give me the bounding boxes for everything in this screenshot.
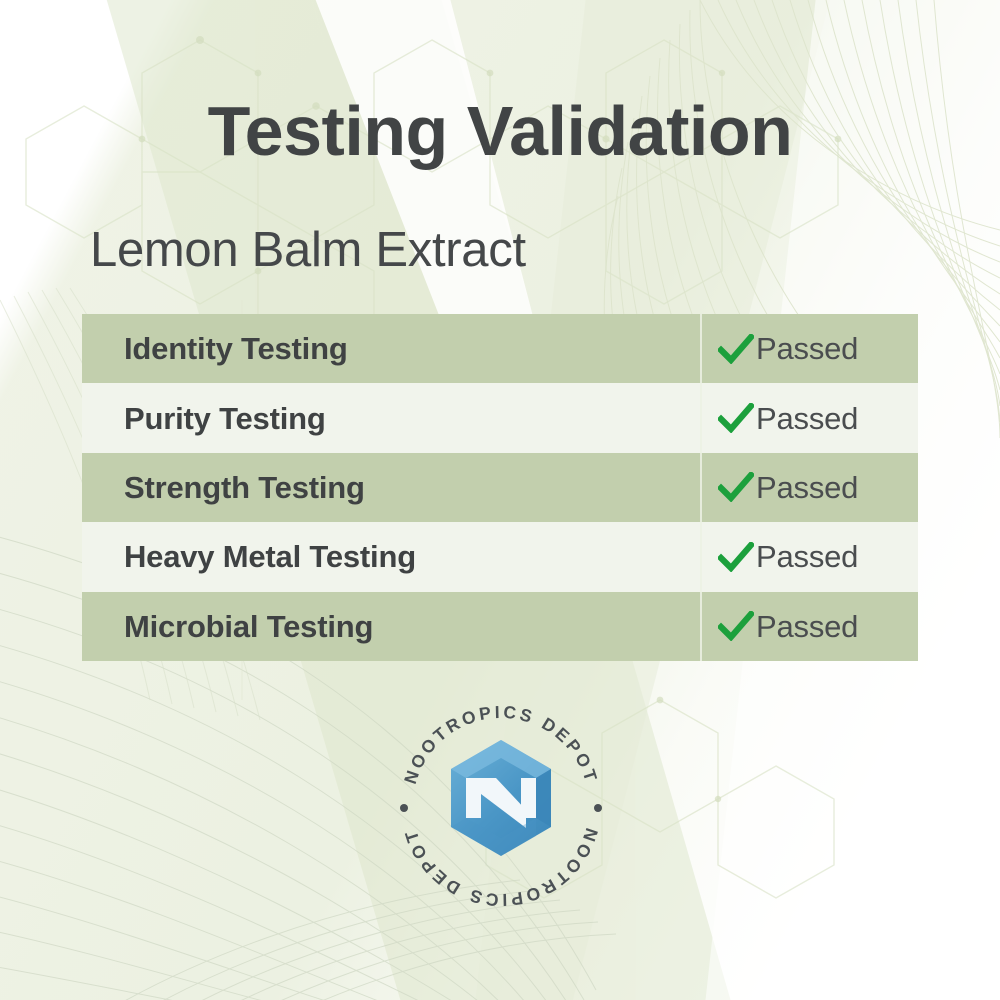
test-status: Passed (718, 403, 858, 434)
status-label: Passed (756, 611, 858, 642)
testing-validation-card: Testing Validation Lemon Balm Extract Id… (0, 0, 1000, 1000)
logo-monogram-icon (451, 740, 551, 856)
check-icon (718, 334, 754, 364)
check-icon (718, 542, 754, 572)
test-status: Passed (718, 472, 858, 503)
brand-logo: NOOTROPICS DEPOT NOOTROPICS DEPOT (385, 690, 617, 922)
table-row: Purity Testing Passed (82, 383, 918, 452)
table-row: Identity Testing Passed (82, 314, 918, 383)
page-title: Testing Validation (0, 96, 1000, 166)
testing-results-table: Identity Testing Passed Purity Testing P… (82, 314, 918, 661)
product-name: Lemon Balm Extract (90, 226, 526, 275)
table-row: Strength Testing Passed (82, 453, 918, 522)
table-row: Heavy Metal Testing Passed (82, 522, 918, 591)
table-row: Microbial Testing Passed (82, 592, 918, 661)
brand-dot-right (594, 804, 602, 812)
test-status: Passed (718, 541, 858, 572)
check-icon (718, 472, 754, 502)
test-name-label: Identity Testing (124, 333, 348, 364)
test-name-label: Purity Testing (124, 403, 326, 434)
check-icon (718, 611, 754, 641)
status-label: Passed (756, 472, 858, 503)
test-name-label: Strength Testing (124, 472, 365, 503)
brand-dot-left (400, 804, 408, 812)
check-icon (718, 403, 754, 433)
status-label: Passed (756, 403, 858, 434)
status-label: Passed (756, 541, 858, 572)
test-name-label: Heavy Metal Testing (124, 541, 416, 572)
test-status: Passed (718, 333, 858, 364)
status-label: Passed (756, 333, 858, 364)
test-name-label: Microbial Testing (124, 611, 373, 642)
test-status: Passed (718, 611, 858, 642)
